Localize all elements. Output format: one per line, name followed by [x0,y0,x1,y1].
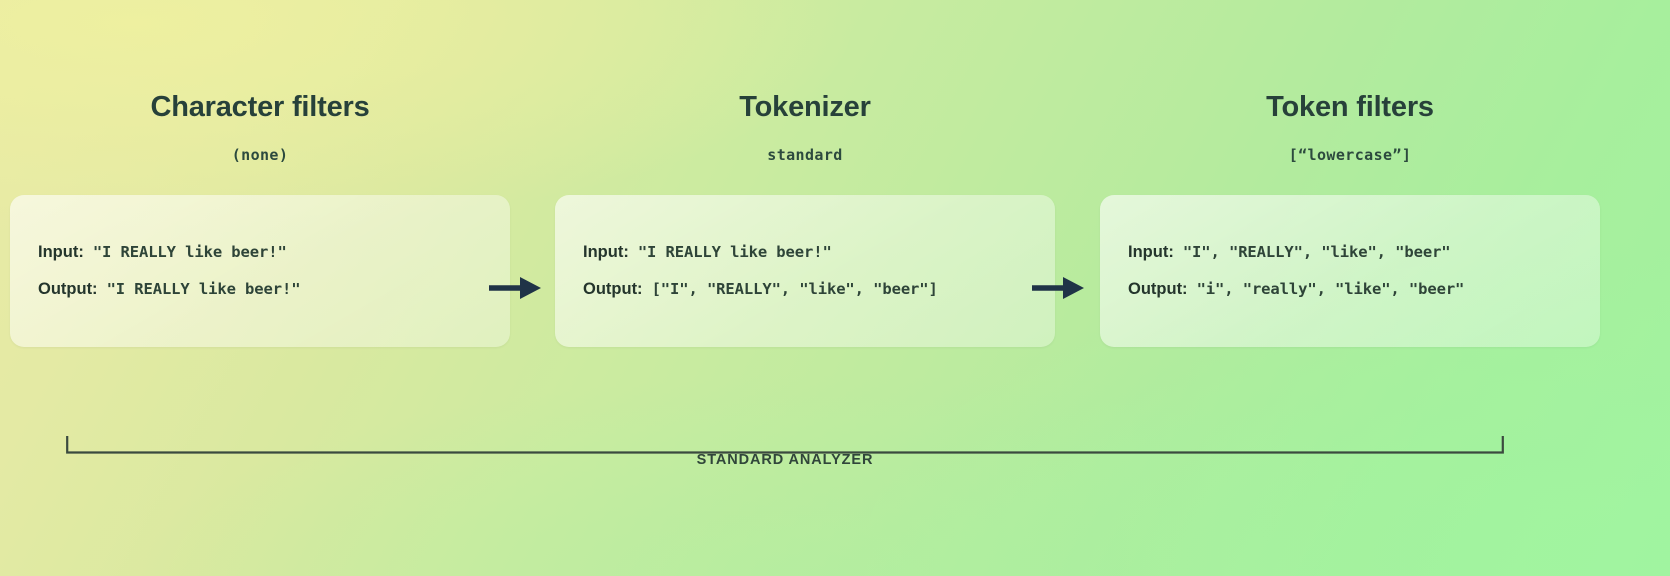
stage-title: Character filters [10,92,510,124]
output-row: Output: "I REALLY like beer!" [38,280,482,299]
input-value: "I", "REALLY", "like", "beer" [1183,243,1451,261]
stage-subtitle: standard [555,146,1055,164]
stage-subtitle: (none) [10,146,510,164]
input-label: Input: [1128,243,1174,262]
output-value: "I REALLY like beer!" [107,280,301,298]
input-row: Input: "I REALLY like beer!" [583,243,1027,262]
stage-subtitle: [“lowercase”] [1100,146,1600,164]
input-row: Input: "I REALLY like beer!" [38,243,482,262]
right-arrow-icon [1030,268,1086,308]
stage-card: Input: "I REALLY like beer!" Output: ["I… [555,195,1055,347]
output-label: Output: [1128,280,1188,299]
stage-card: Input: "I REALLY like beer!" Output: "I … [10,195,510,347]
input-label: Input: [38,243,84,262]
output-row: Output: "i", "really", "like", "beer" [1128,280,1572,299]
output-value: ["I", "REALLY", "like", "beer"] [652,280,938,298]
stage-title: Tokenizer [555,92,1055,124]
stage-title: Token filters [1100,92,1600,124]
stage-character-filters: Character filters (none) Input: "I REALL… [10,0,510,347]
input-value: "I REALLY like beer!" [638,243,832,261]
stage-tokenizer: Tokenizer standard Input: "I REALLY like… [555,0,1055,347]
output-value: "i", "really", "like", "beer" [1197,280,1465,298]
bracket-caption: STANDARD ANALYZER [0,452,1570,468]
stage-token-filters: Token filters [“lowercase”] Input: "I", … [1100,0,1600,347]
input-row: Input: "I", "REALLY", "like", "beer" [1128,243,1572,262]
output-row: Output: ["I", "REALLY", "like", "beer"] [583,280,1027,299]
input-value: "I REALLY like beer!" [93,243,287,261]
output-label: Output: [38,280,98,299]
output-label: Output: [583,280,643,299]
input-label: Input: [583,243,629,262]
diagram-canvas: Character filters (none) Input: "I REALL… [0,0,1670,576]
right-arrow-icon [487,268,543,308]
stage-card: Input: "I", "REALLY", "like", "beer" Out… [1100,195,1600,347]
pipeline-stages: Character filters (none) Input: "I REALL… [0,0,1670,400]
